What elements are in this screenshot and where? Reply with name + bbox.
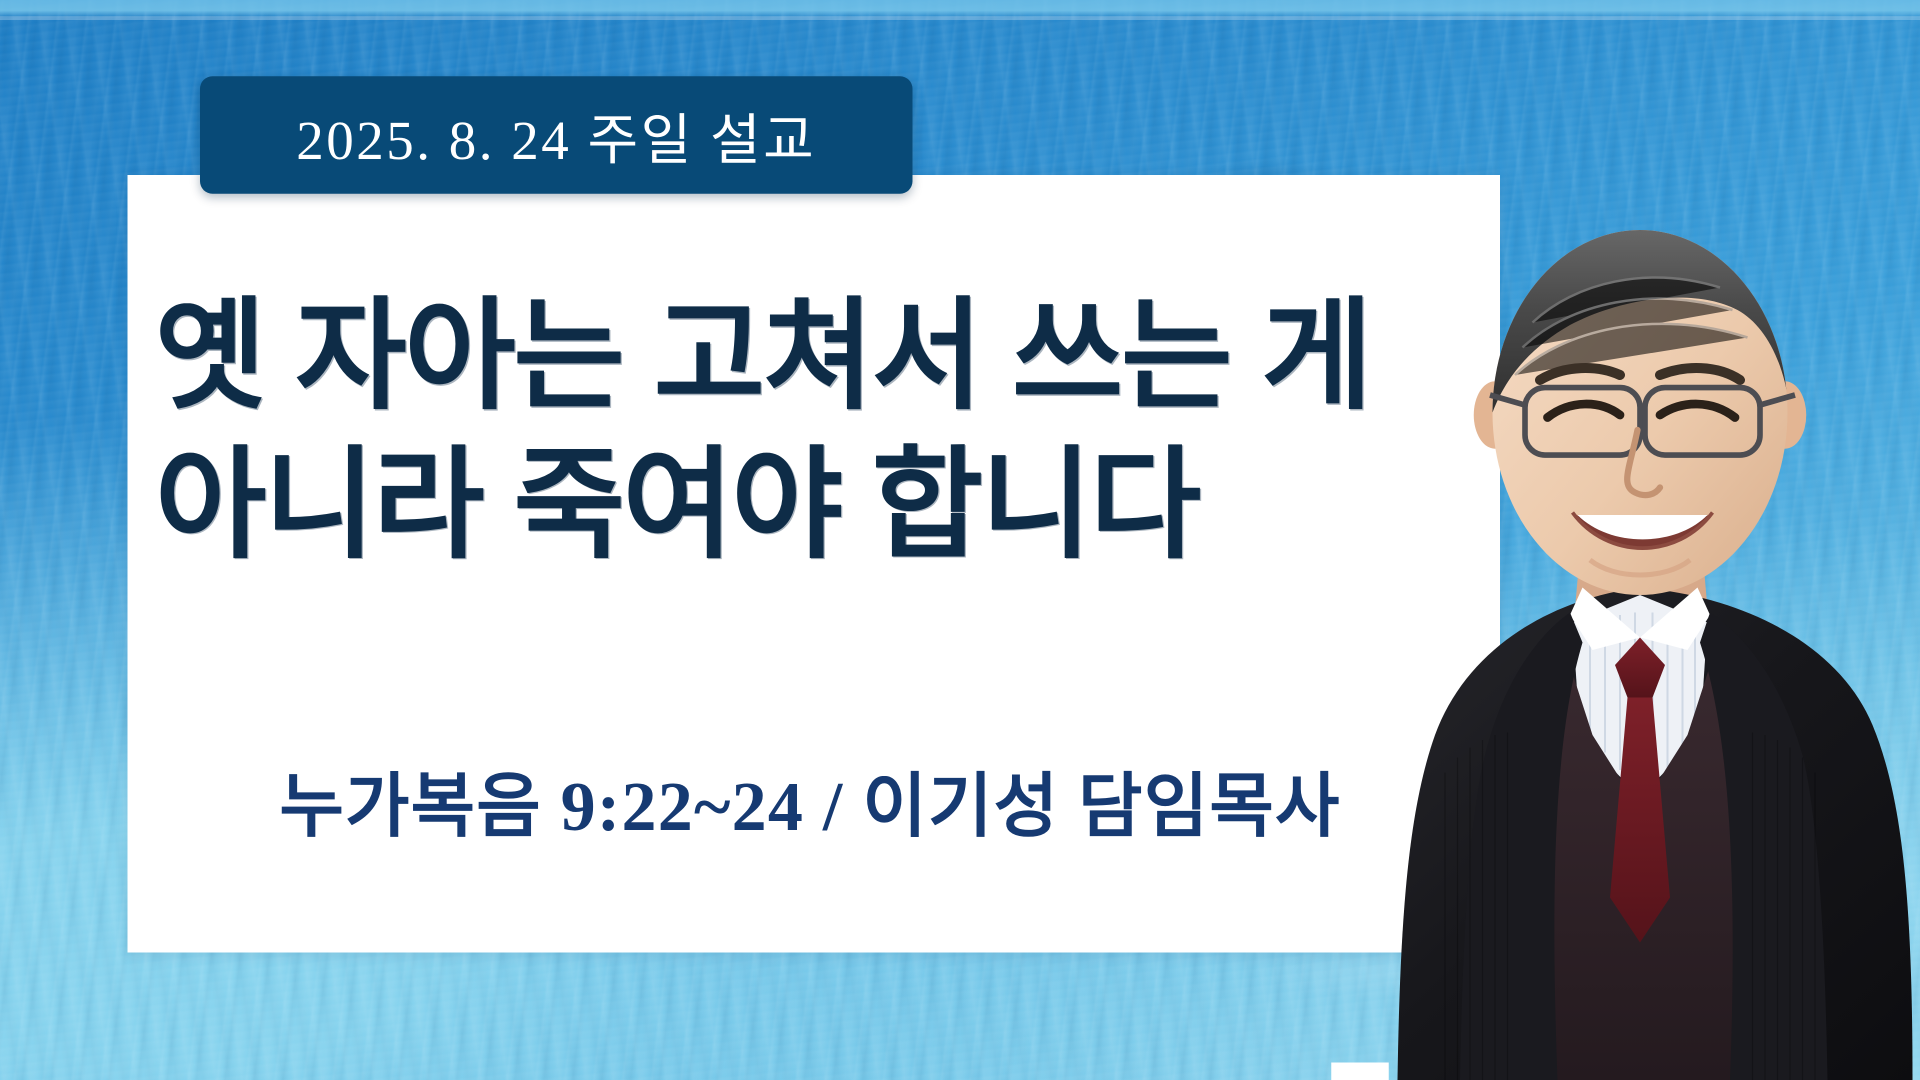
- background-top-stripe: [0, 0, 1920, 18]
- bottom-white-tab: [1331, 1063, 1389, 1080]
- sermon-banner: 2025. 8. 24 주일 설교 옛 자아는 고쳐서 쓰는 게 아니라 죽여야…: [0, 0, 1920, 1080]
- date-badge: 2025. 8. 24 주일 설교: [200, 76, 913, 194]
- sermon-title-line-1: 옛 자아는 고쳐서 쓰는 게: [155, 295, 1473, 419]
- preacher-portrait: [1325, 148, 1920, 1080]
- date-badge-label: 2025. 8. 24 주일 설교: [296, 95, 816, 175]
- preacher-portrait-image: [1325, 148, 1920, 1080]
- sermon-title-line-2: 아니라 죽여야 합니다: [155, 444, 1473, 568]
- background-top-highlight-line: [0, 16, 1920, 20]
- sermon-scripture-and-speaker: 누가복음 9:22~24 / 이기성 담임목사: [148, 750, 1473, 851]
- sermon-title: 옛 자아는 고쳐서 쓰는 게 아니라 죽여야 합니다: [148, 295, 1473, 567]
